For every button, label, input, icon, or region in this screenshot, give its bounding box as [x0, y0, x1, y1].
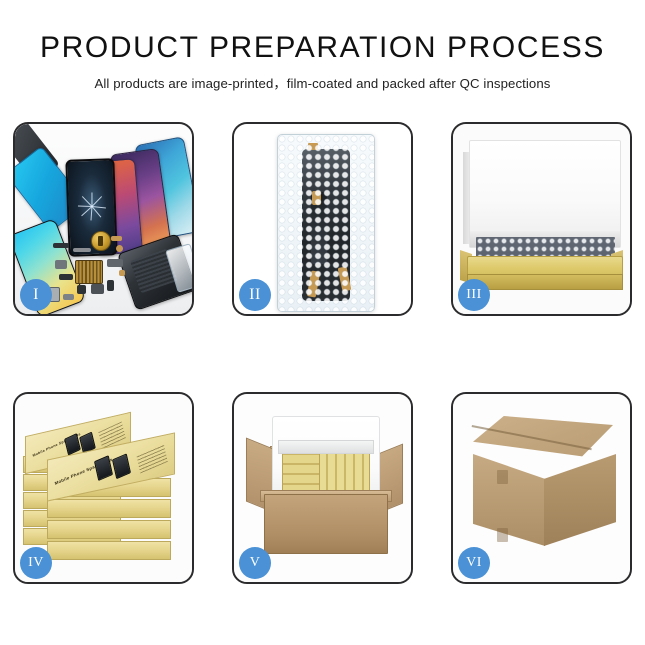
- crack-pattern-icon: [76, 190, 107, 221]
- step-5-illustration: V: [234, 394, 411, 582]
- label-text-lines: [136, 443, 168, 473]
- step-3-illustration: III: [453, 124, 630, 314]
- step-1-illustration: I: [15, 124, 192, 314]
- bubble-texture: [278, 135, 374, 311]
- white-foam-lid: [469, 140, 621, 248]
- step-2-illustration: II: [234, 124, 411, 314]
- page-subtitle: All products are image-printed，film-coat…: [0, 73, 645, 92]
- carton-tape-mark: [497, 470, 508, 484]
- stacked-box: [47, 499, 171, 518]
- step-badge-1: I: [20, 279, 52, 311]
- header: PRODUCT PREPARATION PROCESS All products…: [0, 0, 645, 92]
- step-badge-5: V: [239, 547, 271, 579]
- carton-front-wall: [264, 494, 388, 554]
- step-panel-2: II: [232, 122, 413, 316]
- spare-part: [107, 259, 123, 267]
- kraft-box-front: [467, 274, 623, 290]
- product-preparation-infographic: PRODUCT PREPARATION PROCESS All products…: [0, 0, 645, 645]
- spare-part: [59, 274, 73, 280]
- step-panel-6: VI: [451, 392, 632, 584]
- spare-part: [91, 284, 104, 294]
- spare-part: [111, 236, 122, 241]
- spare-part: [73, 248, 91, 252]
- carton-tape-mark: [497, 528, 508, 542]
- inner-yellow-boxes-side: [282, 452, 320, 494]
- connector-grid-part: [75, 260, 103, 284]
- spare-part: [116, 245, 123, 252]
- screen-thumbnail: [112, 453, 131, 479]
- spare-part: [77, 285, 86, 294]
- stacked-box: [47, 520, 171, 539]
- steps-grid: I II: [13, 122, 633, 584]
- step-badge-2: II: [239, 279, 271, 311]
- step-panel-3: III: [451, 122, 632, 316]
- stacked-box: [47, 541, 171, 560]
- foam-box-lip: [278, 440, 374, 454]
- page-title: PRODUCT PREPARATION PROCESS: [0, 32, 645, 64]
- step-panel-4: Mobile Phone Spare Parts Mobile Phone Sp…: [13, 392, 194, 584]
- step-4-illustration: Mobile Phone Spare Parts Mobile Phone Sp…: [15, 394, 192, 582]
- spare-part: [53, 243, 69, 248]
- vibration-motor-part: [91, 231, 111, 251]
- spare-part: [119, 270, 125, 276]
- spare-part: [63, 294, 74, 300]
- step-6-illustration: VI: [453, 394, 630, 582]
- step-badge-6: VI: [458, 547, 490, 579]
- step-panel-1: I: [13, 122, 194, 316]
- bubble-wrap-package: [277, 134, 375, 312]
- spare-part: [55, 260, 67, 269]
- step-badge-3: III: [458, 279, 490, 311]
- step-badge-4: IV: [20, 547, 52, 579]
- spare-part: [107, 280, 114, 291]
- step-panel-5: V: [232, 392, 413, 584]
